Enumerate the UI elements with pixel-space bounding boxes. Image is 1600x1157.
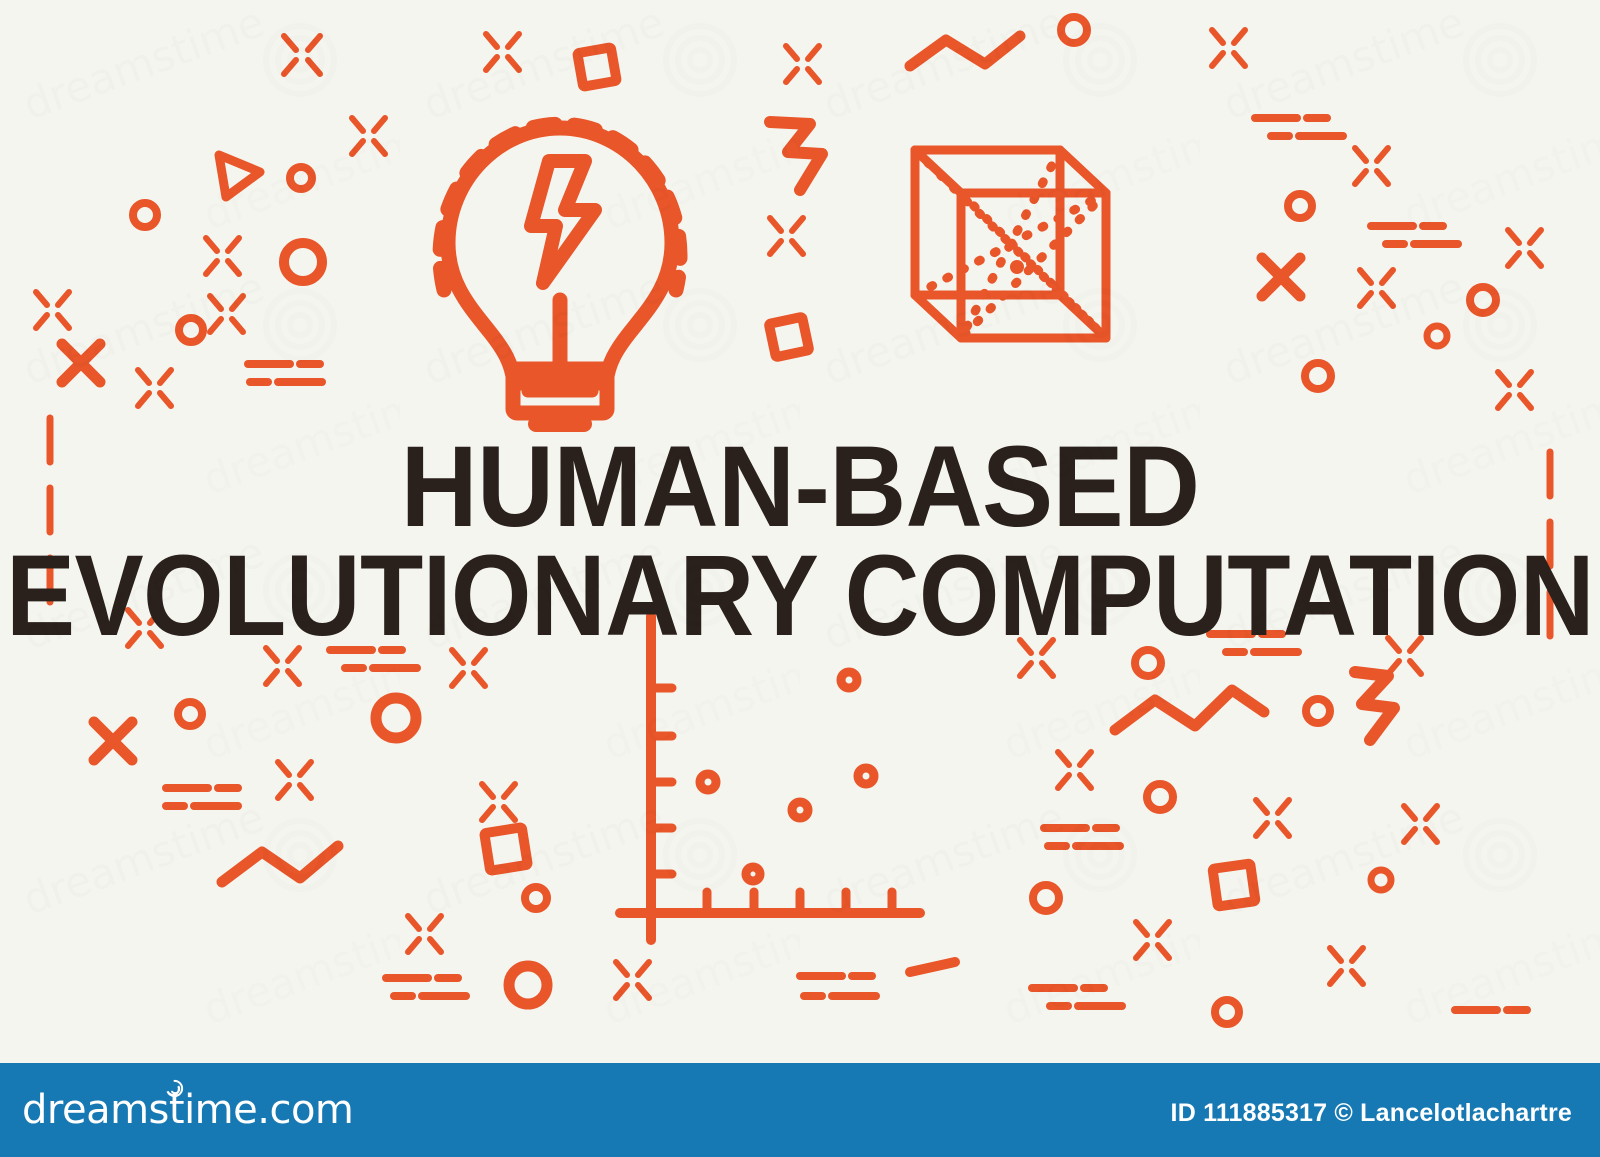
scatter-plot-icon <box>620 616 920 940</box>
wireframe-cube-icon <box>915 150 1106 338</box>
scatter-points <box>700 672 874 881</box>
poster-canvas: dreamstime dreamstime HUMAN-BASED EVOLUT… <box>0 0 1600 1157</box>
lightbulb-idea-icon <box>440 124 680 424</box>
title-line-1: HUMAN-BASED <box>0 432 1600 543</box>
stock-footer-bar: dreamstime.com ID 111885317 © Lancelotla… <box>0 1063 1600 1157</box>
dreamstime-spiral-icon <box>165 1079 184 1098</box>
image-credit: ID 111885317 © Lancelotlachartre <box>1171 1099 1572 1128</box>
title-line-2: EVOLUTIONARY COMPUTATION <box>0 541 1600 652</box>
page-title: HUMAN-BASED EVOLUTIONARY COMPUTATION <box>0 432 1600 623</box>
dreamstime-logo[interactable]: dreamstime.com <box>22 1087 353 1133</box>
